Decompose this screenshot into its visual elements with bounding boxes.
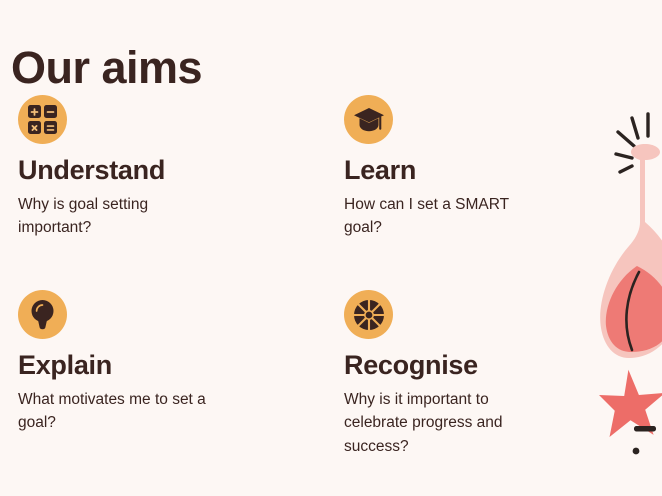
dash-mark <box>634 426 656 432</box>
aim-heading: Understand <box>18 156 248 186</box>
basketball-icon <box>344 290 393 339</box>
aim-description: What motivates me to set a goal? <box>18 388 218 435</box>
aim-item-understand: Understand Why is goal setting important… <box>18 95 248 240</box>
aim-heading: Explain <box>18 351 248 381</box>
slide-canvas: Our aims <box>0 0 662 496</box>
aim-description: How can I set a SMART goal? <box>344 193 544 240</box>
star-shape <box>599 370 662 437</box>
decorative-illustration <box>596 100 662 496</box>
conical-flask-icon <box>600 144 662 358</box>
dot-mark <box>633 448 640 455</box>
aim-description: Why is goal setting important? <box>18 193 218 240</box>
page-title: Our aims <box>11 44 202 91</box>
aim-item-explain: Explain What motivates me to set a goal? <box>18 290 248 435</box>
aim-heading: Recognise <box>344 351 574 381</box>
aim-heading: Learn <box>344 156 574 186</box>
lightbulb-icon <box>18 290 67 339</box>
graduation-cap-icon <box>344 95 393 144</box>
aim-item-learn: Learn How can I set a SMART goal? <box>344 95 574 240</box>
spark-lines <box>616 114 648 172</box>
calculator-icon <box>18 95 67 144</box>
aim-item-recognise: Recognise Why is it important to celebra… <box>344 290 574 458</box>
aim-description: Why is it important to celebrate progres… <box>344 388 544 459</box>
